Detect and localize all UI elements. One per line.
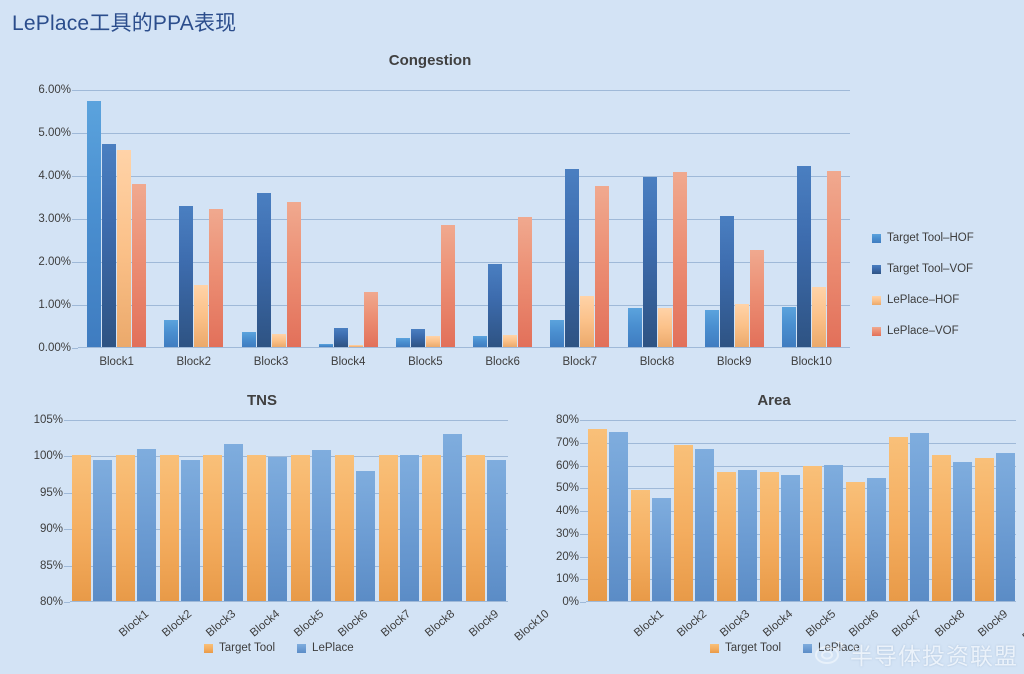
bar-congestion-block5-s4[interactable] — [441, 225, 455, 347]
bar-congestion-block1-s4[interactable] — [132, 184, 146, 347]
bar-tns-block5-s2[interactable] — [268, 457, 287, 601]
legend-swatch-icon — [872, 234, 881, 243]
x-axis-label-block6: Block6 — [336, 608, 370, 639]
page-title: LePlace工具的PPA表现 — [12, 7, 236, 37]
x-axis-label-block4: Block4 — [310, 356, 387, 368]
bar-tns-block6-s1[interactable] — [291, 455, 310, 601]
tns-chart-title: TNS — [8, 392, 516, 409]
area-chart-title: Area — [524, 392, 1024, 409]
y-axis-tick-label: 60% — [556, 460, 586, 472]
bar-congestion-block2-s3[interactable] — [194, 285, 208, 347]
bar-area-block10-s1[interactable] — [975, 458, 994, 601]
area-chart: Area0%10%20%30%40%50%60%70%80%Block1Bloc… — [524, 392, 1024, 670]
bar-area-block9-s2[interactable] — [953, 462, 972, 601]
gridline — [70, 566, 508, 567]
y-axis-tick-label: 40% — [556, 505, 586, 517]
bar-congestion-block2-s4[interactable] — [209, 209, 223, 347]
bar-congestion-block6-s2[interactable] — [488, 264, 502, 347]
bar-area-block2-s1[interactable] — [631, 490, 650, 601]
x-axis-label-block2: Block2 — [675, 608, 709, 639]
gridline — [70, 420, 508, 421]
bar-congestion-block7-s3[interactable] — [580, 296, 594, 347]
bar-area-block8-s1[interactable] — [889, 437, 908, 601]
bar-tns-block10-s2[interactable] — [487, 460, 506, 601]
x-axis-label-block5: Block5 — [292, 608, 326, 639]
y-axis-tick-label: 95% — [40, 487, 70, 499]
legend-item-area-s2[interactable]: LePlace — [803, 642, 860, 654]
gridline — [78, 219, 850, 220]
bar-tns-block10-s1[interactable] — [466, 455, 485, 601]
bar-area-block7-s1[interactable] — [846, 482, 865, 601]
bar-area-block4-s2[interactable] — [738, 470, 757, 601]
bar-tns-block7-s2[interactable] — [356, 471, 375, 601]
bar-tns-block8-s1[interactable] — [379, 455, 398, 601]
gridline — [586, 579, 1016, 580]
legend-label: Target Tool — [219, 642, 275, 654]
y-axis-tick-label: 70% — [556, 437, 586, 449]
x-axis-label-block6: Block6 — [464, 356, 541, 368]
gridline — [586, 420, 1016, 421]
legend-item-tns-s1[interactable]: Target Tool — [204, 642, 275, 654]
bar-congestion-block9-s2[interactable] — [720, 216, 734, 347]
y-axis-tick-label: 50% — [556, 482, 586, 494]
legend-item-congestion-s4[interactable]: LePlace–VOF — [872, 325, 974, 337]
legend-label: Target Tool–HOF — [887, 232, 974, 244]
x-axis-label-block2: Block2 — [160, 608, 194, 639]
bar-tns-block1-s2[interactable] — [93, 460, 112, 601]
legend-swatch-icon — [872, 265, 881, 274]
bar-congestion-block2-s1[interactable] — [164, 320, 178, 347]
y-axis-tick-label: 3.00% — [38, 213, 78, 225]
bar-congestion-block10-s2[interactable] — [797, 166, 811, 347]
y-axis-tick-label: 4.00% — [38, 170, 78, 182]
x-axis-label-block2: Block2 — [155, 356, 232, 368]
y-axis-tick-label: 85% — [40, 560, 70, 572]
congestion-legend: Target Tool–HOFTarget Tool–VOFLePlace–HO… — [872, 232, 974, 356]
legend-label: Target Tool–VOF — [887, 263, 973, 275]
legend-label: LePlace–HOF — [887, 294, 959, 306]
x-axis-label-block3: Block3 — [204, 608, 238, 639]
bar-congestion-block9-s4[interactable] — [750, 250, 764, 347]
bar-area-block6-s1[interactable] — [803, 466, 822, 601]
bar-tns-block6-s2[interactable] — [312, 450, 331, 601]
legend-swatch-icon — [872, 327, 881, 336]
x-axis-label-block5: Block5 — [387, 356, 464, 368]
gridline — [586, 488, 1016, 489]
bar-congestion-block7-s4[interactable] — [595, 186, 609, 347]
y-axis-tick-label: 30% — [556, 528, 586, 540]
congestion-chart-title: Congestion — [0, 52, 860, 69]
bar-congestion-block3-s2[interactable] — [257, 193, 271, 347]
tns-plot-area: 80%85%90%95%100%105%Block1Block2Block3Bl… — [70, 420, 508, 602]
area-legend: Target ToolLePlace — [710, 642, 882, 654]
x-axis-label-block8: Block8 — [933, 608, 967, 639]
gridline — [70, 456, 508, 457]
x-axis-label-block9: Block9 — [467, 608, 501, 639]
x-axis-label-block8: Block8 — [618, 356, 695, 368]
x-axis-label-block8: Block8 — [423, 608, 457, 639]
legend-item-tns-s2[interactable]: LePlace — [297, 642, 354, 654]
bar-congestion-block1-s1[interactable] — [87, 101, 101, 347]
area-plot-area: 0%10%20%30%40%50%60%70%80%Block1Block2Bl… — [586, 420, 1016, 602]
x-axis-label-block3: Block3 — [718, 608, 752, 639]
bar-congestion-block3-s4[interactable] — [287, 202, 301, 347]
bar-congestion-block7-s2[interactable] — [565, 169, 579, 347]
y-axis-tick-label: 80% — [556, 414, 586, 426]
y-axis-tick-label: 20% — [556, 551, 586, 563]
y-axis-tick-label: 105% — [34, 414, 70, 426]
legend-swatch-icon — [204, 644, 213, 653]
bar-congestion-block1-s3[interactable] — [117, 150, 131, 347]
bar-area-block5-s2[interactable] — [781, 475, 800, 601]
gridline — [586, 511, 1016, 512]
y-axis-tick-label: 10% — [556, 573, 586, 585]
bar-congestion-block8-s3[interactable] — [658, 308, 672, 347]
bar-tns-block4-s2[interactable] — [224, 444, 243, 601]
bar-congestion-block6-s1[interactable] — [473, 336, 487, 347]
legend-item-area-s1[interactable]: Target Tool — [710, 642, 781, 654]
x-axis-label-block7: Block7 — [890, 608, 924, 639]
bar-congestion-block9-s1[interactable] — [705, 310, 719, 347]
congestion-chart: Congestion0.00%1.00%2.00%3.00%4.00%5.00%… — [0, 52, 860, 370]
bar-congestion-block5-s2[interactable] — [411, 329, 425, 347]
bar-congestion-block4-s4[interactable] — [364, 292, 378, 347]
bar-tns-block5-s1[interactable] — [247, 455, 266, 601]
bar-area-block3-s1[interactable] — [674, 445, 693, 601]
y-axis-tick-label: 1.00% — [38, 299, 78, 311]
y-axis-tick-label: 6.00% — [38, 84, 78, 96]
bar-congestion-block2-s2[interactable] — [179, 206, 193, 347]
bar-congestion-block8-s2[interactable] — [643, 177, 657, 347]
bar-area-block1-s2[interactable] — [609, 432, 628, 601]
bar-congestion-block3-s1[interactable] — [242, 332, 256, 347]
bar-congestion-block10-s3[interactable] — [812, 287, 826, 347]
bar-tns-block7-s1[interactable] — [335, 455, 354, 601]
legend-label: Target Tool — [725, 642, 781, 654]
bar-congestion-block4-s1[interactable] — [319, 344, 333, 347]
bar-tns-block3-s2[interactable] — [181, 460, 200, 601]
bar-congestion-block10-s1[interactable] — [782, 307, 796, 347]
bar-tns-block9-s2[interactable] — [443, 434, 462, 601]
bar-tns-block8-s2[interactable] — [400, 455, 419, 601]
gridline — [586, 466, 1016, 467]
bar-congestion-block1-s2[interactable] — [102, 144, 116, 347]
x-axis-label-block1: Block1 — [117, 608, 151, 639]
legend-swatch-icon — [297, 644, 306, 653]
gridline — [586, 557, 1016, 558]
bar-congestion-block4-s2[interactable] — [334, 328, 348, 347]
legend-swatch-icon — [710, 644, 719, 653]
x-axis-label-block1: Block1 — [78, 356, 155, 368]
bar-tns-block9-s1[interactable] — [422, 455, 441, 601]
x-axis-label-block10: Block10 — [1020, 608, 1024, 643]
bar-congestion-block4-s3[interactable] — [349, 345, 363, 347]
x-axis-label-block9: Block9 — [976, 608, 1010, 639]
x-axis-label-block6: Block6 — [847, 608, 881, 639]
x-axis-label-block4: Block4 — [761, 608, 795, 639]
bar-congestion-block9-s3[interactable] — [735, 304, 749, 347]
bar-tns-block1-s1[interactable] — [72, 455, 91, 601]
bar-area-block5-s1[interactable] — [760, 472, 779, 601]
bar-congestion-block3-s3[interactable] — [272, 334, 286, 347]
legend-label: LePlace–VOF — [887, 325, 959, 337]
y-axis-tick-label: 0.00% — [38, 342, 78, 354]
bar-tns-block3-s1[interactable] — [160, 455, 179, 601]
bar-area-block6-s2[interactable] — [824, 465, 843, 602]
bar-area-block3-s2[interactable] — [695, 449, 714, 601]
x-axis-label-block7: Block7 — [541, 356, 618, 368]
x-axis-label-block9: Block9 — [696, 356, 773, 368]
legend-item-congestion-s1[interactable]: Target Tool–HOF — [872, 232, 974, 244]
y-axis-tick-label: 90% — [40, 523, 70, 535]
bar-congestion-block10-s4[interactable] — [827, 171, 841, 347]
bar-area-block4-s1[interactable] — [717, 472, 736, 601]
gridline — [586, 443, 1016, 444]
x-axis-label-block1: Block1 — [632, 608, 666, 639]
y-axis-tick-label: 0% — [562, 596, 586, 608]
x-axis-label-block3: Block3 — [232, 356, 309, 368]
bar-tns-block2-s2[interactable] — [137, 449, 156, 601]
gridline — [78, 90, 850, 91]
y-axis-tick-label: 5.00% — [38, 127, 78, 139]
bar-tns-block4-s1[interactable] — [203, 455, 222, 601]
bar-area-block9-s1[interactable] — [932, 455, 951, 601]
bar-congestion-block5-s1[interactable] — [396, 338, 410, 347]
gridline — [70, 529, 508, 530]
bar-congestion-block6-s3[interactable] — [503, 335, 517, 347]
legend-swatch-icon — [872, 296, 881, 305]
bar-congestion-block8-s1[interactable] — [628, 308, 642, 347]
y-axis-tick-label: 80% — [40, 596, 70, 608]
gridline — [78, 133, 850, 134]
legend-label: LePlace — [312, 642, 354, 654]
legend-item-congestion-s3[interactable]: LePlace–HOF — [872, 294, 974, 306]
congestion-plot-area: 0.00%1.00%2.00%3.00%4.00%5.00%6.00%Block… — [78, 90, 850, 348]
legend-item-congestion-s2[interactable]: Target Tool–VOF — [872, 263, 974, 275]
bar-area-block10-s2[interactable] — [996, 453, 1015, 601]
bar-tns-block2-s1[interactable] — [116, 455, 135, 601]
bar-congestion-block5-s3[interactable] — [426, 336, 440, 347]
bar-congestion-block8-s4[interactable] — [673, 172, 687, 347]
gridline — [586, 534, 1016, 535]
x-axis-label-block4: Block4 — [248, 608, 282, 639]
bar-congestion-block6-s4[interactable] — [518, 217, 532, 347]
tns-chart: TNS80%85%90%95%100%105%Block1Block2Block… — [8, 392, 516, 670]
bar-area-block7-s2[interactable] — [867, 478, 886, 601]
gridline — [78, 262, 850, 263]
gridline — [70, 493, 508, 494]
x-axis-label-block7: Block7 — [379, 608, 413, 639]
y-axis-tick-label: 2.00% — [38, 256, 78, 268]
y-axis-tick-label: 100% — [34, 450, 70, 462]
bar-area-block8-s2[interactable] — [910, 433, 929, 601]
tns-legend: Target ToolLePlace — [204, 642, 376, 654]
bar-area-block1-s1[interactable] — [588, 429, 607, 601]
legend-label: LePlace — [818, 642, 860, 654]
gridline — [78, 176, 850, 177]
bar-area-block2-s2[interactable] — [652, 498, 671, 602]
x-axis-label-block5: Block5 — [804, 608, 838, 639]
legend-swatch-icon — [803, 644, 812, 653]
x-axis-label-block10: Block10 — [773, 356, 850, 368]
bar-congestion-block7-s1[interactable] — [550, 320, 564, 347]
